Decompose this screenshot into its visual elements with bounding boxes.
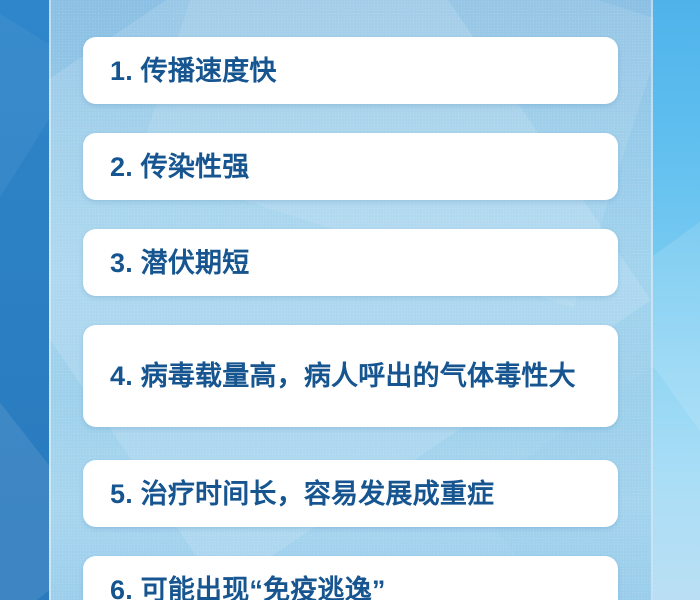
poster-canvas: 1. 传播速度快 2. 传染性强 3. 潜伏期短 4. 病毒载量高，病人呼出的气… (0, 0, 700, 600)
list-item[interactable]: 6. 可能出现“免疫逃逸” (83, 556, 618, 600)
left-band-highlight-top (0, 0, 49, 235)
panel-edge-left (49, 0, 51, 600)
list-item[interactable]: 1. 传播速度快 (83, 37, 618, 104)
list-item-label: 3. 潜伏期短 (110, 245, 249, 281)
right-band-highlight (653, 200, 700, 537)
card-list: 1. 传播速度快 2. 传染性强 3. 潜伏期短 4. 病毒载量高，病人呼出的气… (83, 0, 618, 600)
left-band-highlight-bottom (0, 354, 49, 600)
list-item-label: 2. 传染性强 (110, 149, 249, 185)
right-accent-band (653, 0, 700, 600)
list-item[interactable]: 2. 传染性强 (83, 133, 618, 200)
list-item[interactable]: 3. 潜伏期短 (83, 229, 618, 296)
list-item-label: 4. 病毒载量高，病人呼出的气体毒性大 (110, 358, 576, 394)
list-item[interactable]: 5. 治疗时间长，容易发展成重症 (83, 460, 618, 527)
list-item[interactable]: 4. 病毒载量高，病人呼出的气体毒性大 (83, 325, 618, 427)
left-accent-band (0, 0, 49, 600)
list-item-label: 1. 传播速度快 (110, 53, 277, 89)
list-item-label: 6. 可能出现“免疫逃逸” (110, 572, 386, 600)
list-item-label: 5. 治疗时间长，容易发展成重症 (110, 476, 494, 512)
